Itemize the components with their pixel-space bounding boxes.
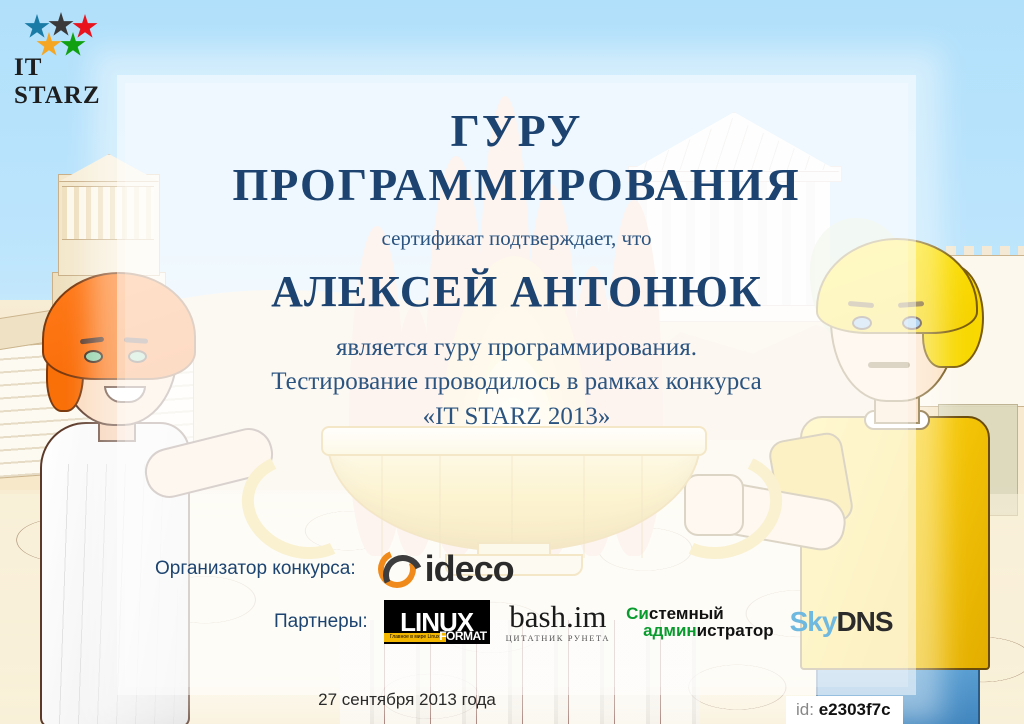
ideco-swirl-icon: [378, 550, 416, 588]
certificate-body-line3: «IT STARZ 2013»: [117, 403, 916, 431]
ideco-logo: ideco: [378, 548, 514, 590]
certificate-title-line1: ГУРУ: [117, 104, 916, 157]
recipient-name: АЛЕКСЕЙ АНТОНЮК: [117, 266, 916, 317]
star-icon-blue: [24, 14, 50, 40]
sysadm-r2a: админ: [643, 621, 697, 640]
partners-row: Партнеры: LINUX Главное в мире Linux FOR…: [274, 600, 893, 644]
certificate-body-line2: Тестирование проводилось в рамках конкур…: [117, 368, 916, 396]
logo-wordmark: IT STARZ: [14, 54, 114, 110]
sysadm-r1b: стемный: [649, 604, 724, 623]
certificate-body-line1: является гуру программирования.: [117, 334, 916, 362]
linux-format-line2: FORMAT: [439, 629, 486, 643]
certificate-date: 27 сентября 2013 года: [117, 690, 697, 710]
certificate-subtitle: сертификат подтверждает, что: [117, 226, 916, 251]
skydns-sky: Sky: [790, 606, 837, 637]
it-starz-logo: IT STARZ: [10, 6, 114, 84]
linux-format-logo: LINUX Главное в мире Linux FORMAT: [384, 600, 490, 644]
stars-icon: [10, 6, 114, 54]
certificate-id-value: e2303f7c: [819, 700, 891, 719]
ideco-wordmark: ideco: [425, 548, 514, 590]
bash-im-tagline: ЦИТАТНИК РУНЕТА: [506, 634, 610, 643]
sysadm-r2b: истратор: [697, 621, 774, 640]
bash-im-logo: bash.im ЦИТАТНИК РУНЕТА: [506, 601, 610, 643]
skydns-dns: DNS: [836, 606, 892, 637]
skydns-logo: SkyDNS: [790, 606, 893, 638]
organizer-row: Организатор конкурса: ideco: [155, 548, 514, 590]
sistemny-administrator-logo: Системный администратор: [626, 605, 774, 640]
star-icon-dark: [48, 12, 74, 38]
bash-im-wordmark: bash.im: [509, 601, 606, 632]
certificate-canvas: IT STARZ ГУРУ ПРОГРАММИРОВАНИЯ сертифика…: [0, 0, 1024, 724]
organizer-label: Организатор конкурса:: [155, 558, 356, 580]
certificate-id-box: id: e2303f7c: [786, 696, 903, 724]
certificate-title-line2: ПРОГРАММИРОВАНИЯ: [117, 158, 916, 211]
sysadm-r1a: Си: [626, 604, 649, 623]
certificate-id-label: id:: [796, 700, 814, 719]
partners-label: Партнеры:: [274, 611, 368, 633]
star-icon-red: [72, 14, 98, 40]
linux-format-tagline: Главное в мире Linux: [384, 633, 446, 642]
